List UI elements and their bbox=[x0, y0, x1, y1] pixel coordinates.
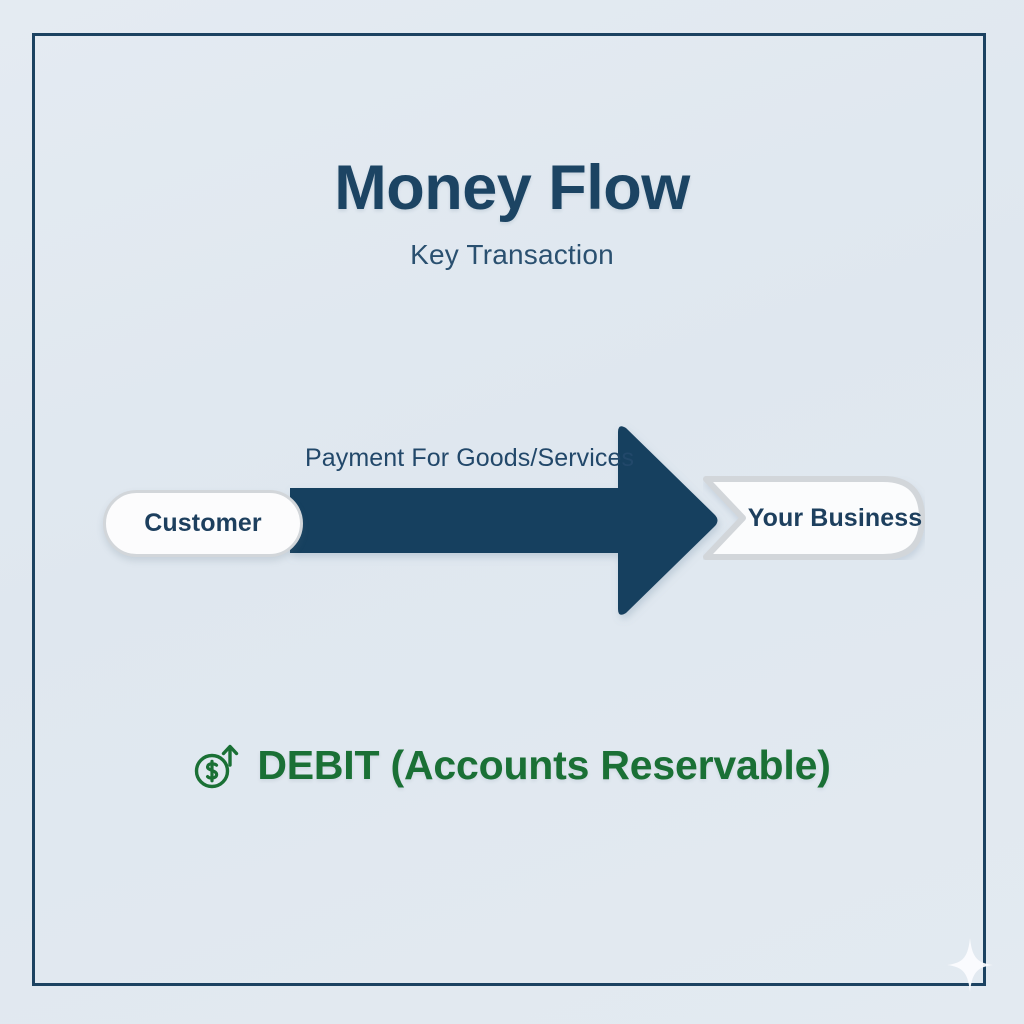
flow-node-business-label: Your Business bbox=[703, 476, 925, 560]
dollar-circle-up-arrow-icon bbox=[193, 740, 241, 792]
debit-label: DEBIT (Accounts Reservable) bbox=[257, 742, 830, 789]
money-flow-diagram: Payment For Goods/Services Customer Your… bbox=[0, 0, 1024, 1024]
flow-node-customer-label: Customer bbox=[144, 509, 262, 538]
arrow-label: Payment For Goods/Services bbox=[305, 444, 634, 473]
four-point-star-icon bbox=[946, 938, 994, 992]
debit-statement: DEBIT (Accounts Reservable) bbox=[0, 738, 1024, 792]
flow-node-customer[interactable]: Customer bbox=[103, 490, 303, 557]
flow-node-business[interactable]: Your Business bbox=[703, 476, 925, 560]
diagram-canvas: Money Flow Key Transaction Payment For G… bbox=[0, 0, 1024, 1024]
